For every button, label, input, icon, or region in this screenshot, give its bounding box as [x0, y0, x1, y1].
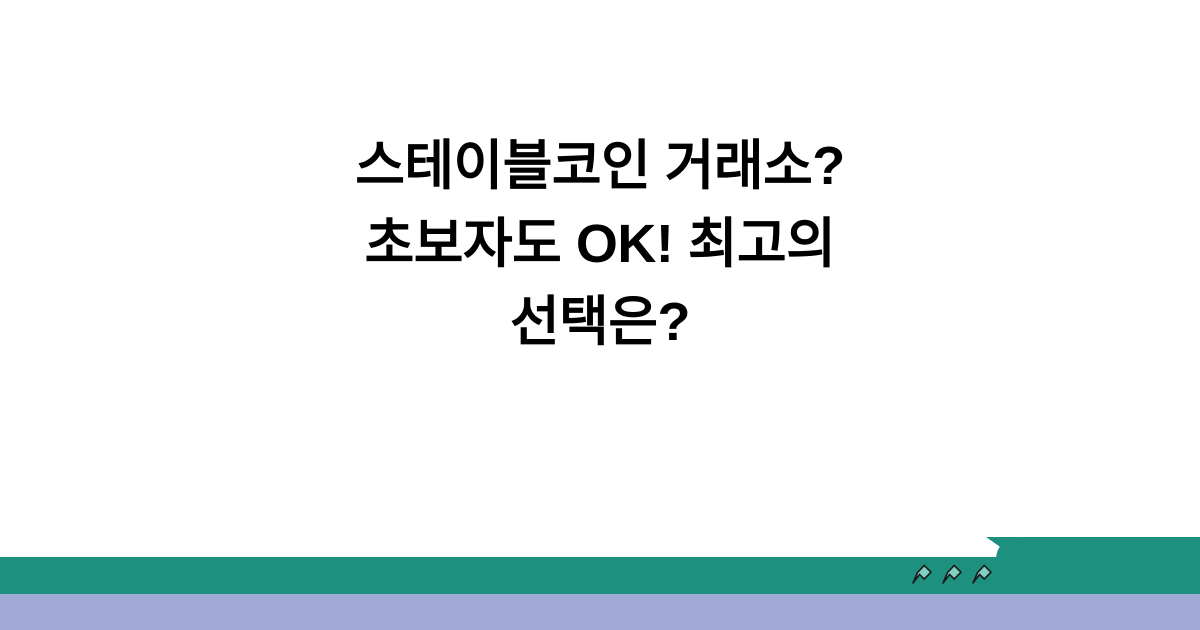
- thumbnail-card: 스테이블코인 거래소? 초보자도 OK! 최고의 선택은?: [0, 0, 1200, 630]
- pushpin-diamond-icon: [910, 562, 934, 586]
- title-block: 스테이블코인 거래소? 초보자도 OK! 최고의 선택은?: [0, 0, 1200, 557]
- purple-accent-band: [0, 594, 1200, 630]
- decorative-pin-row: [910, 560, 994, 588]
- pushpin-diamond-icon: [970, 562, 994, 586]
- page-title-line-3: 선택은?: [60, 283, 1140, 361]
- page-title-line-2: 초보자도 OK! 최고의: [60, 205, 1140, 283]
- page-title-line-1: 스테이블코인 거래소?: [60, 127, 1140, 205]
- pushpin-diamond-icon: [940, 562, 964, 586]
- teal-accent-band: [0, 557, 1200, 594]
